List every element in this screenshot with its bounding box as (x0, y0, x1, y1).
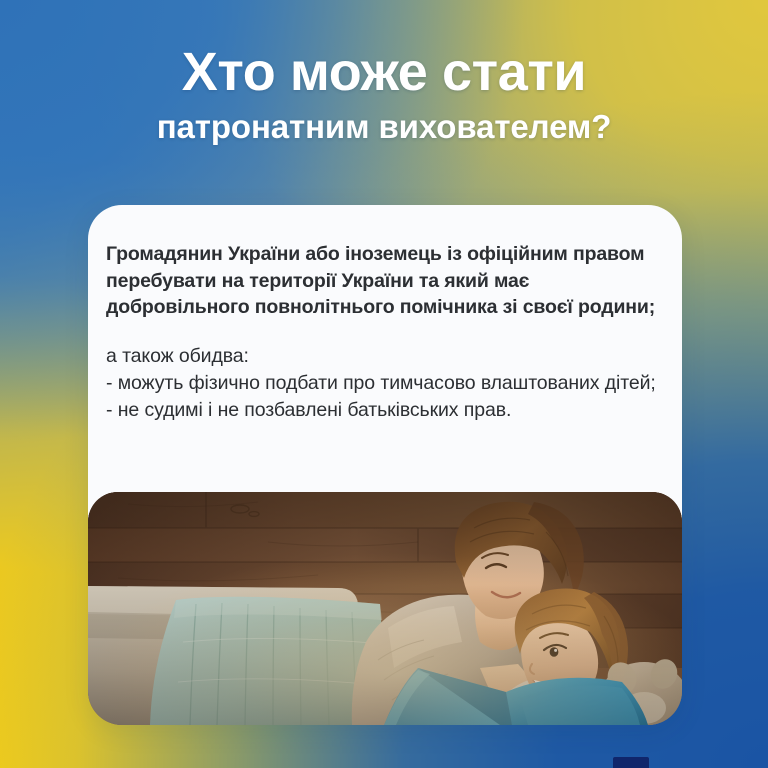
poster-root: Хто може стати патронатним вихователем? … (0, 0, 768, 768)
family-reading-photo (88, 492, 682, 725)
info-card: Громадянин України або іноземець із офіц… (88, 205, 682, 725)
page-title-line-2: патронатним вихователем? (0, 107, 768, 147)
requirement-secondary-paragraph: а також обидва: - можуть фізично подбати… (106, 343, 660, 423)
bottom-navy-tab (613, 757, 649, 768)
page-title-line-1: Хто може стати (0, 44, 768, 101)
page-title: Хто може стати патронатним вихователем? (0, 44, 768, 147)
family-reading-illustration (88, 492, 682, 725)
info-card-text: Громадянин України або іноземець із офіц… (88, 205, 682, 423)
requirement-primary-paragraph: Громадянин України або іноземець із офіц… (106, 241, 660, 321)
